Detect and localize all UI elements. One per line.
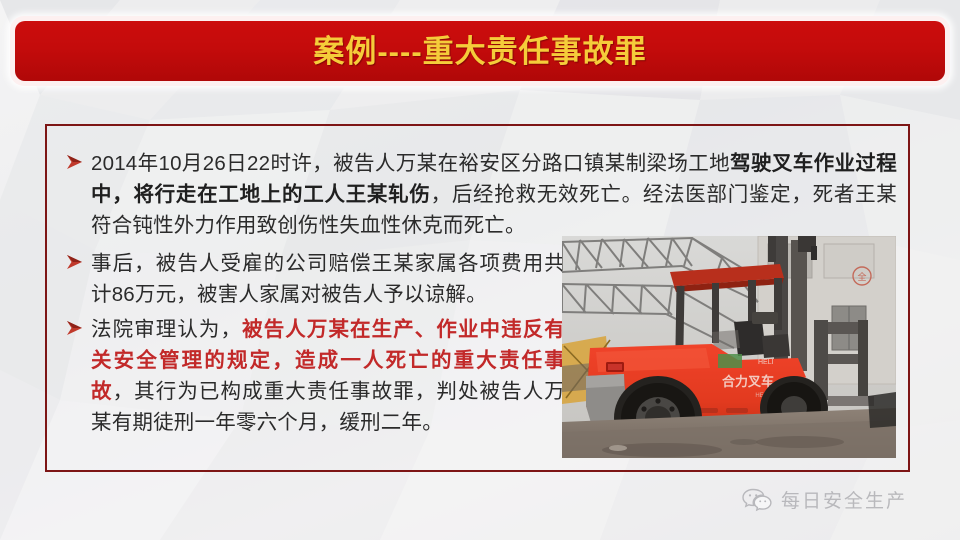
svg-text:合力叉车: 合力叉车 [722,374,774,389]
page-title: 案例----重大责任事故罪 [313,36,646,67]
wechat-icon [742,487,772,513]
paragraph-verdict-text: 法院审理认为，被告人万某在生产、作业中违反有关安全管理的规定，造成一人死亡的重大… [91,314,565,438]
svg-text:HELI: HELI [758,359,774,366]
title-banner: 案例----重大责任事故罪 [15,21,945,81]
slide-canvas: 案例----重大责任事故罪 2014年10月26日22时许，被告人万某在裕安区分… [0,0,960,540]
paragraph-verdict: 法院审理认为，被告人万某在生产、作业中违反有关安全管理的规定，造成一人死亡的重大… [65,314,565,438]
arrow-bullet-icon [65,314,91,336]
arrow-bullet-icon [65,148,91,170]
run-normal: 事后，被告人受雇的公司赔偿王某家属各项费用共计86万元，被害人家属对被告人予以谅… [91,252,565,306]
svg-text:全: 全 [857,271,866,282]
run-normal: ，其行为已构成重大责任事故罪，判处被告人万某有期徒刑一年零六个月，缓刑二年。 [91,380,565,434]
content-box: 2014年10月26日22时许，被告人万某在裕安区分路口镇某制梁场工地驾驶叉车作… [45,124,910,472]
run-normal: 2014年10月26日22时许，被告人万某在裕安区分路口镇某制梁场工地 [91,152,730,175]
title-banner-frame: 案例----重大责任事故罪 [10,16,950,86]
forklift-photo: 全 [562,236,896,458]
arrow-bullet-icon [65,248,91,270]
paragraph-compensation-text: 事后，被告人受雇的公司赔偿王某家属各项费用共计86万元，被害人家属对被告人予以谅… [91,248,565,310]
paragraph-compensation: 事后，被告人受雇的公司赔偿王某家属各项费用共计86万元，被害人家属对被告人予以谅… [65,248,565,310]
paragraph-incident: 2014年10月26日22时许，被告人万某在裕安区分路口镇某制梁场工地驾驶叉车作… [65,148,897,241]
paragraph-incident-text: 2014年10月26日22时许，被告人万某在裕安区分路口镇某制梁场工地驾驶叉车作… [91,148,897,241]
run-normal: 法院审理认为， [91,318,242,341]
watermark: 每日安全生产 [742,486,907,513]
watermark-label: 每日安全生产 [781,486,907,513]
